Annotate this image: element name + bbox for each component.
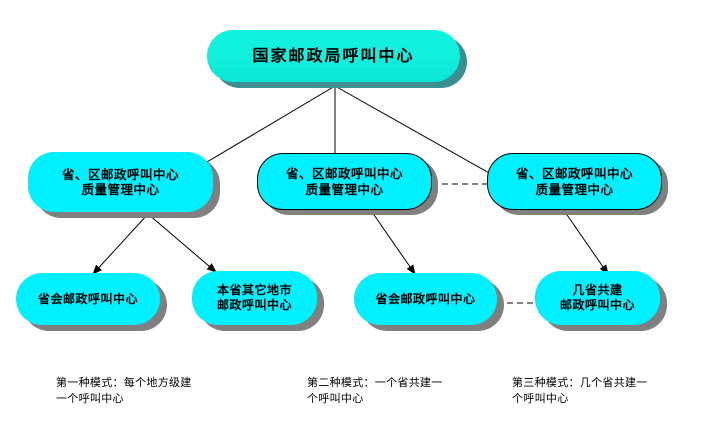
caption-mode-1: 第一种模式：每个地方级建 一个呼叫中心 bbox=[56, 375, 286, 407]
connector-l2a-to-l3b bbox=[148, 214, 216, 272]
node-root[interactable]: 国家邮政局呼叫中心 bbox=[207, 30, 460, 82]
node-level2-province-qc-1[interactable]: 省、区邮政呼叫中心 质量管理中心 bbox=[28, 152, 213, 212]
caption-mode-3: 第三种模式：几个省共建一 个呼叫中心 bbox=[512, 375, 705, 407]
node-level2-province-qc-3[interactable]: 省、区邮政呼叫中心 质量管理中心 bbox=[487, 153, 662, 210]
caption-mode-2: 第二种模式：一个省共建一 个呼叫中心 bbox=[307, 375, 507, 407]
node-level3-multi-province-call-center[interactable]: 几省共建 邮政呼叫中心 bbox=[535, 271, 660, 325]
node-level3-capital-call-center-2[interactable]: 省会邮政呼叫中心 bbox=[354, 273, 497, 325]
node-level3-capital-call-center-1[interactable]: 省会邮政呼叫中心 bbox=[16, 273, 160, 325]
connector-l2a-to-l3a bbox=[93, 214, 148, 274]
node-level2-province-qc-2[interactable]: 省、区邮政呼叫中心 质量管理中心 bbox=[257, 153, 432, 210]
connector-l2b-to-l3c bbox=[372, 212, 415, 274]
connector-l2c-to-l3d bbox=[565, 212, 608, 274]
diagram-canvas: 国家邮政局呼叫中心 省、区邮政呼叫中心 质量管理中心 省、区邮政呼叫中心 质量管… bbox=[0, 0, 705, 428]
node-level3-other-cities-call-center[interactable]: 本省其它地市 邮政呼叫中心 bbox=[192, 271, 317, 325]
